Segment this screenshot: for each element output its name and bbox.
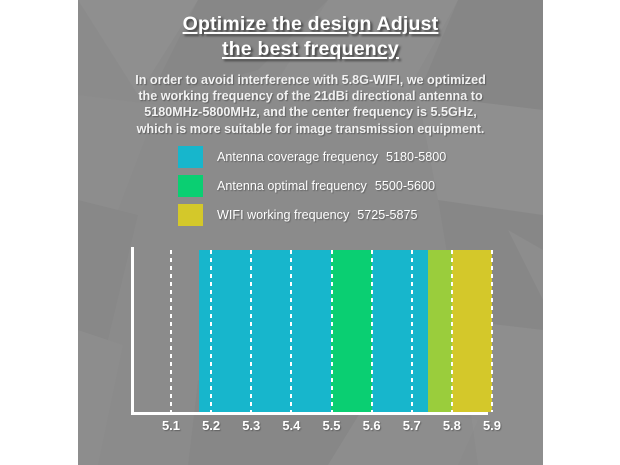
chart-x-tick-label: 5.9	[472, 418, 512, 433]
chart-band	[372, 250, 428, 412]
chart-x-tick-label: 5.2	[191, 418, 231, 433]
chart-gridline	[290, 250, 292, 412]
chart-gridline	[210, 250, 212, 412]
chart-gridline	[491, 250, 493, 412]
frequency-band-chart: 5.15.25.35.45.55.65.75.85.9	[78, 0, 543, 465]
chart-y-axis	[131, 247, 134, 415]
chart-x-tick-label: 5.8	[432, 418, 472, 433]
infographic-root: Optimize the design Adjust the best freq…	[0, 0, 620, 465]
chart-band	[428, 250, 452, 412]
chart-plot-area	[199, 250, 492, 412]
chart-x-tick-label: 5.5	[312, 418, 352, 433]
chart-gridline	[451, 250, 453, 412]
chart-x-tick-label: 5.6	[352, 418, 392, 433]
chart-x-axis	[131, 412, 488, 415]
chart-gridline	[250, 250, 252, 412]
chart-x-tick-label: 5.1	[151, 418, 191, 433]
chart-gridline	[331, 250, 333, 412]
chart-band	[452, 250, 492, 412]
chart-band	[331, 250, 371, 412]
chart-gridline	[170, 250, 172, 412]
chart-x-tick-label: 5.3	[231, 418, 271, 433]
chart-x-tick-label: 5.7	[392, 418, 432, 433]
chart-gridline	[371, 250, 373, 412]
chart-gridline	[411, 250, 413, 412]
chart-band	[199, 250, 331, 412]
chart-x-tick-label: 5.4	[271, 418, 311, 433]
